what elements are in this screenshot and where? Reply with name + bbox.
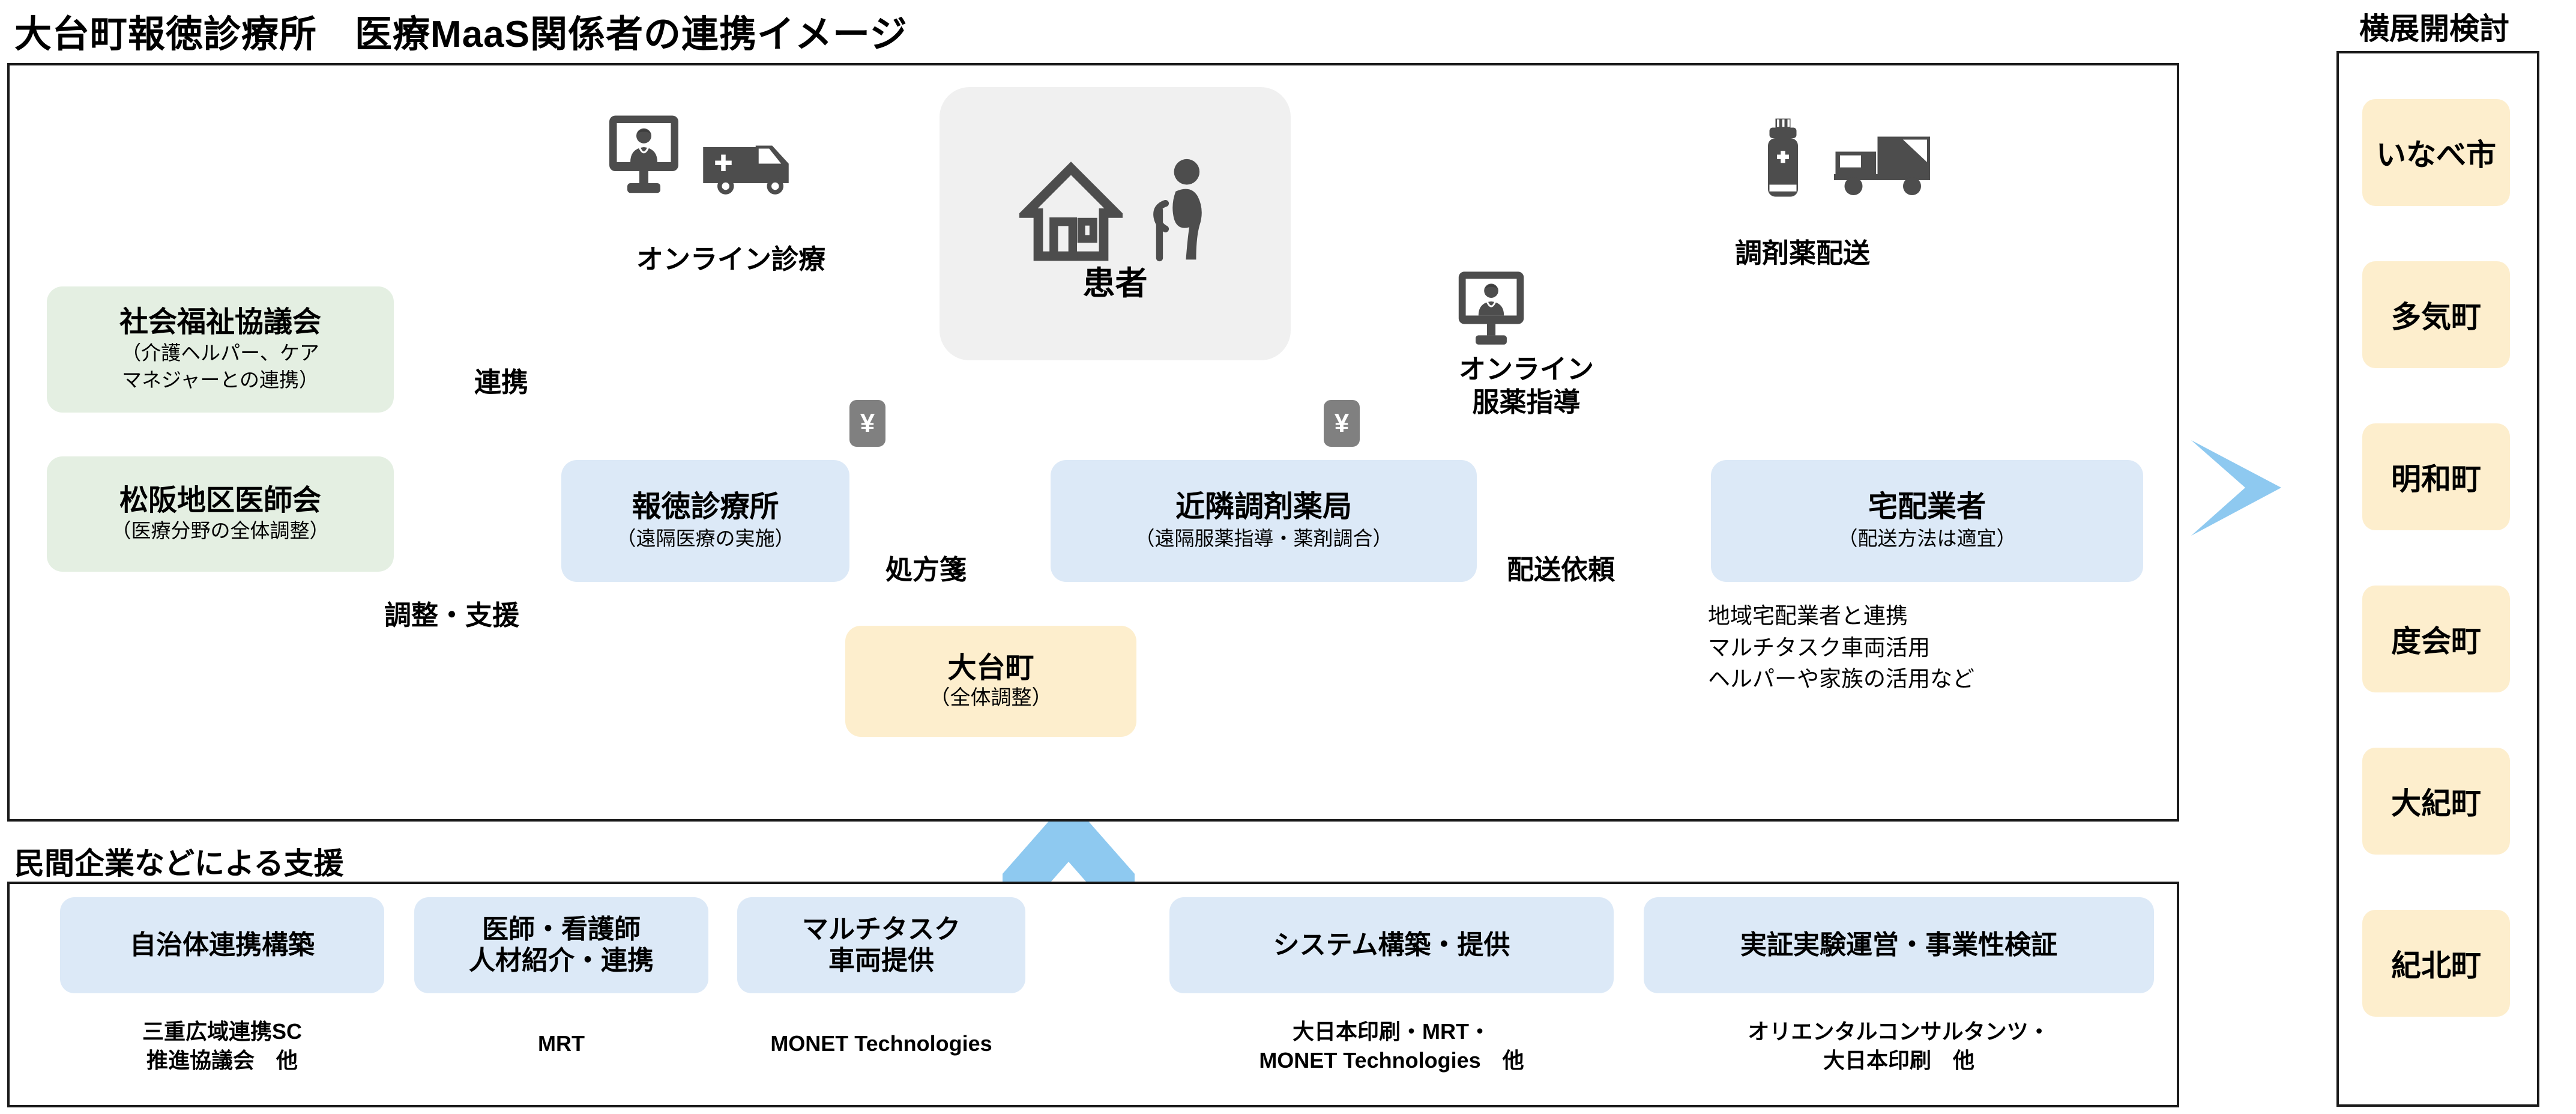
support-box-0[interactable]: 自治体連携構築 <box>60 897 384 993</box>
support-caption-3-line2: MONET Technologies 他 <box>1157 1046 1626 1075</box>
node-odai-title: 大台町 <box>947 653 1034 684</box>
support-box-4[interactable]: 実証実験運営・事業性検証 <box>1644 897 2154 993</box>
support-box-2-title-line2: 車両提供 <box>828 945 934 976</box>
delivery-note: 地域宅配業者と連携 マルチタスク車両活用 ヘルパーや家族の活用など <box>1708 601 2164 695</box>
ambulance-van-icon <box>699 135 798 198</box>
pharmacist-on-monitor-icon <box>1456 270 1527 350</box>
node-patient-label: 患者 <box>1083 266 1148 301</box>
label-delivery-request: 配送依頼 <box>1507 548 1615 587</box>
diagram-canvas: 大台町報徳診療所 医療MaaS関係者の連携イメージ 横展開検討 民間企業などによ… <box>0 0 2576 1114</box>
municipality-item-1[interactable]: 多気町 <box>2362 261 2510 368</box>
page-title: 大台町報徳診療所 医療MaaS関係者の連携イメージ <box>14 4 908 58</box>
label-online-medication-guidance-line1: オンライン <box>1459 353 1594 386</box>
elderly-person-with-cane-icon <box>1138 157 1211 266</box>
support-caption-0-line1: 三重広域連携SC <box>60 1017 384 1046</box>
municipality-item-2[interactable]: 明和町 <box>2362 423 2510 530</box>
yen-symbol-left: ¥ <box>860 408 875 438</box>
municipality-label-4: 大紀町 <box>2391 779 2481 823</box>
support-caption-1: MRT <box>414 1029 708 1058</box>
delivery-note-line1: 地域宅配業者と連携 <box>1708 601 2164 632</box>
node-odai-town[interactable]: 大台町 （全体調整） <box>845 626 1136 737</box>
support-box-3-title-line1: システム構築・提供 <box>1273 930 1510 961</box>
node-shakyo-title: 社会福祉協議会 <box>119 307 321 338</box>
label-online-consultation: オンライン診療 <box>636 237 825 276</box>
support-box-1-title-line2: 人材紹介・連携 <box>469 945 654 976</box>
node-shakyo-sub-line1: （介護ヘルパー、ケア <box>121 342 319 365</box>
chevron-right-icon <box>2191 440 2281 536</box>
node-delivery-title: 宅配業者 <box>1868 491 1986 523</box>
node-pharmacy-title: 近隣調剤薬局 <box>1175 491 1352 523</box>
node-shakyo[interactable]: 社会福祉協議会 （介護ヘルパー、ケア マネジャーとの連携） <box>47 286 394 413</box>
municipality-label-1: 多気町 <box>2391 293 2481 336</box>
support-caption-4-line2: 大日本印刷 他 <box>1644 1046 2154 1075</box>
lateral-expansion-title: 横展開検討 <box>2308 5 2560 48</box>
municipality-item-5[interactable]: 紀北町 <box>2362 910 2510 1017</box>
support-box-4-title-line1: 実証実験運営・事業性検証 <box>1740 930 2057 961</box>
support-box-0-title-line1: 自治体連携構築 <box>130 930 315 961</box>
support-box-3[interactable]: システム構築・提供 <box>1169 897 1614 993</box>
support-box-1-title-line1: 医師・看護師 <box>482 914 641 945</box>
house-icon <box>1019 160 1123 266</box>
label-chosei-shien: 調整・支援 <box>384 593 519 632</box>
yen-symbol-right: ¥ <box>1335 408 1349 438</box>
support-caption-2-line1: MONET Technologies <box>725 1029 1037 1058</box>
node-ishikai-title: 松阪地区医師会 <box>119 485 321 516</box>
municipality-item-0[interactable]: いなべ市 <box>2362 99 2510 206</box>
label-prescription: 処方箋 <box>885 548 967 587</box>
yen-badge-left: ¥ <box>849 400 885 447</box>
support-caption-4-line1: オリエンタルコンサルタンツ・ <box>1644 1017 2154 1046</box>
node-ishikai[interactable]: 松阪地区医師会 （医療分野の全体調整） <box>47 456 394 572</box>
doctor-on-monitor-icon <box>606 114 681 198</box>
support-section-title: 民間企業などによる支援 <box>14 840 344 883</box>
support-caption-3: 大日本印刷・MRT・ MONET Technologies 他 <box>1157 1017 1626 1075</box>
support-caption-0-line2: 推進協議会 他 <box>60 1046 384 1075</box>
support-caption-2: MONET Technologies <box>725 1029 1037 1058</box>
municipality-label-0: いなべ市 <box>2376 131 2496 174</box>
label-online-medication-guidance: オンライン 服薬指導 <box>1459 353 1594 419</box>
municipality-item-4[interactable]: 大紀町 <box>2362 748 2510 855</box>
yen-badge-right: ¥ <box>1324 400 1360 447</box>
municipality-label-2: 明和町 <box>2391 455 2481 498</box>
municipality-label-3: 度会町 <box>2391 617 2481 661</box>
delivery-note-line2: マルチタスク車両活用 <box>1708 632 2164 664</box>
node-pharmacy[interactable]: 近隣調剤薬局 （遠隔服薬指導・薬剤調合） <box>1051 460 1477 582</box>
node-delivery[interactable]: 宅配業者 （配送方法は適宜） <box>1711 460 2143 582</box>
label-renkei: 連携 <box>474 360 528 399</box>
node-pharmacy-sub: （遠隔服薬指導・薬剤調合） <box>1135 527 1393 551</box>
support-box-2[interactable]: マルチタスク 車両提供 <box>737 897 1025 993</box>
support-caption-0: 三重広域連携SC 推進協議会 他 <box>60 1017 384 1075</box>
support-box-2-title-line1: マルチタスク <box>802 914 961 945</box>
node-clinic[interactable]: 報徳診療所 （遠隔医療の実施） <box>561 460 849 582</box>
delivery-note-line3: ヘルパーや家族の活用など <box>1708 664 2164 695</box>
support-caption-4: オリエンタルコンサルタンツ・ 大日本印刷 他 <box>1644 1017 2154 1075</box>
support-box-1[interactable]: 医師・看護師 人材紹介・連携 <box>414 897 708 993</box>
node-clinic-title: 報徳診療所 <box>632 491 779 523</box>
support-caption-3-line1: 大日本印刷・MRT・ <box>1157 1017 1626 1046</box>
label-medicine-delivery: 調剤薬配送 <box>1735 231 1870 270</box>
node-odai-sub: （全体調整） <box>930 686 1052 710</box>
node-patient[interactable]: 患者 <box>940 87 1291 360</box>
medicine-bottle-icon <box>1759 117 1807 198</box>
node-delivery-sub: （配送方法は適宜） <box>1838 527 2016 551</box>
node-clinic-sub: （遠隔医療の実施） <box>617 527 795 551</box>
support-caption-1-line1: MRT <box>414 1029 708 1058</box>
delivery-truck-icon <box>1831 132 1933 198</box>
municipality-label-5: 紀北町 <box>2391 942 2481 985</box>
node-shakyo-sub-line2: マネジャーとの連携） <box>122 369 319 392</box>
label-online-medication-guidance-line2: 服薬指導 <box>1459 386 1594 419</box>
municipality-item-3[interactable]: 度会町 <box>2362 586 2510 692</box>
node-ishikai-sub: （医療分野の全体調整） <box>112 519 330 543</box>
